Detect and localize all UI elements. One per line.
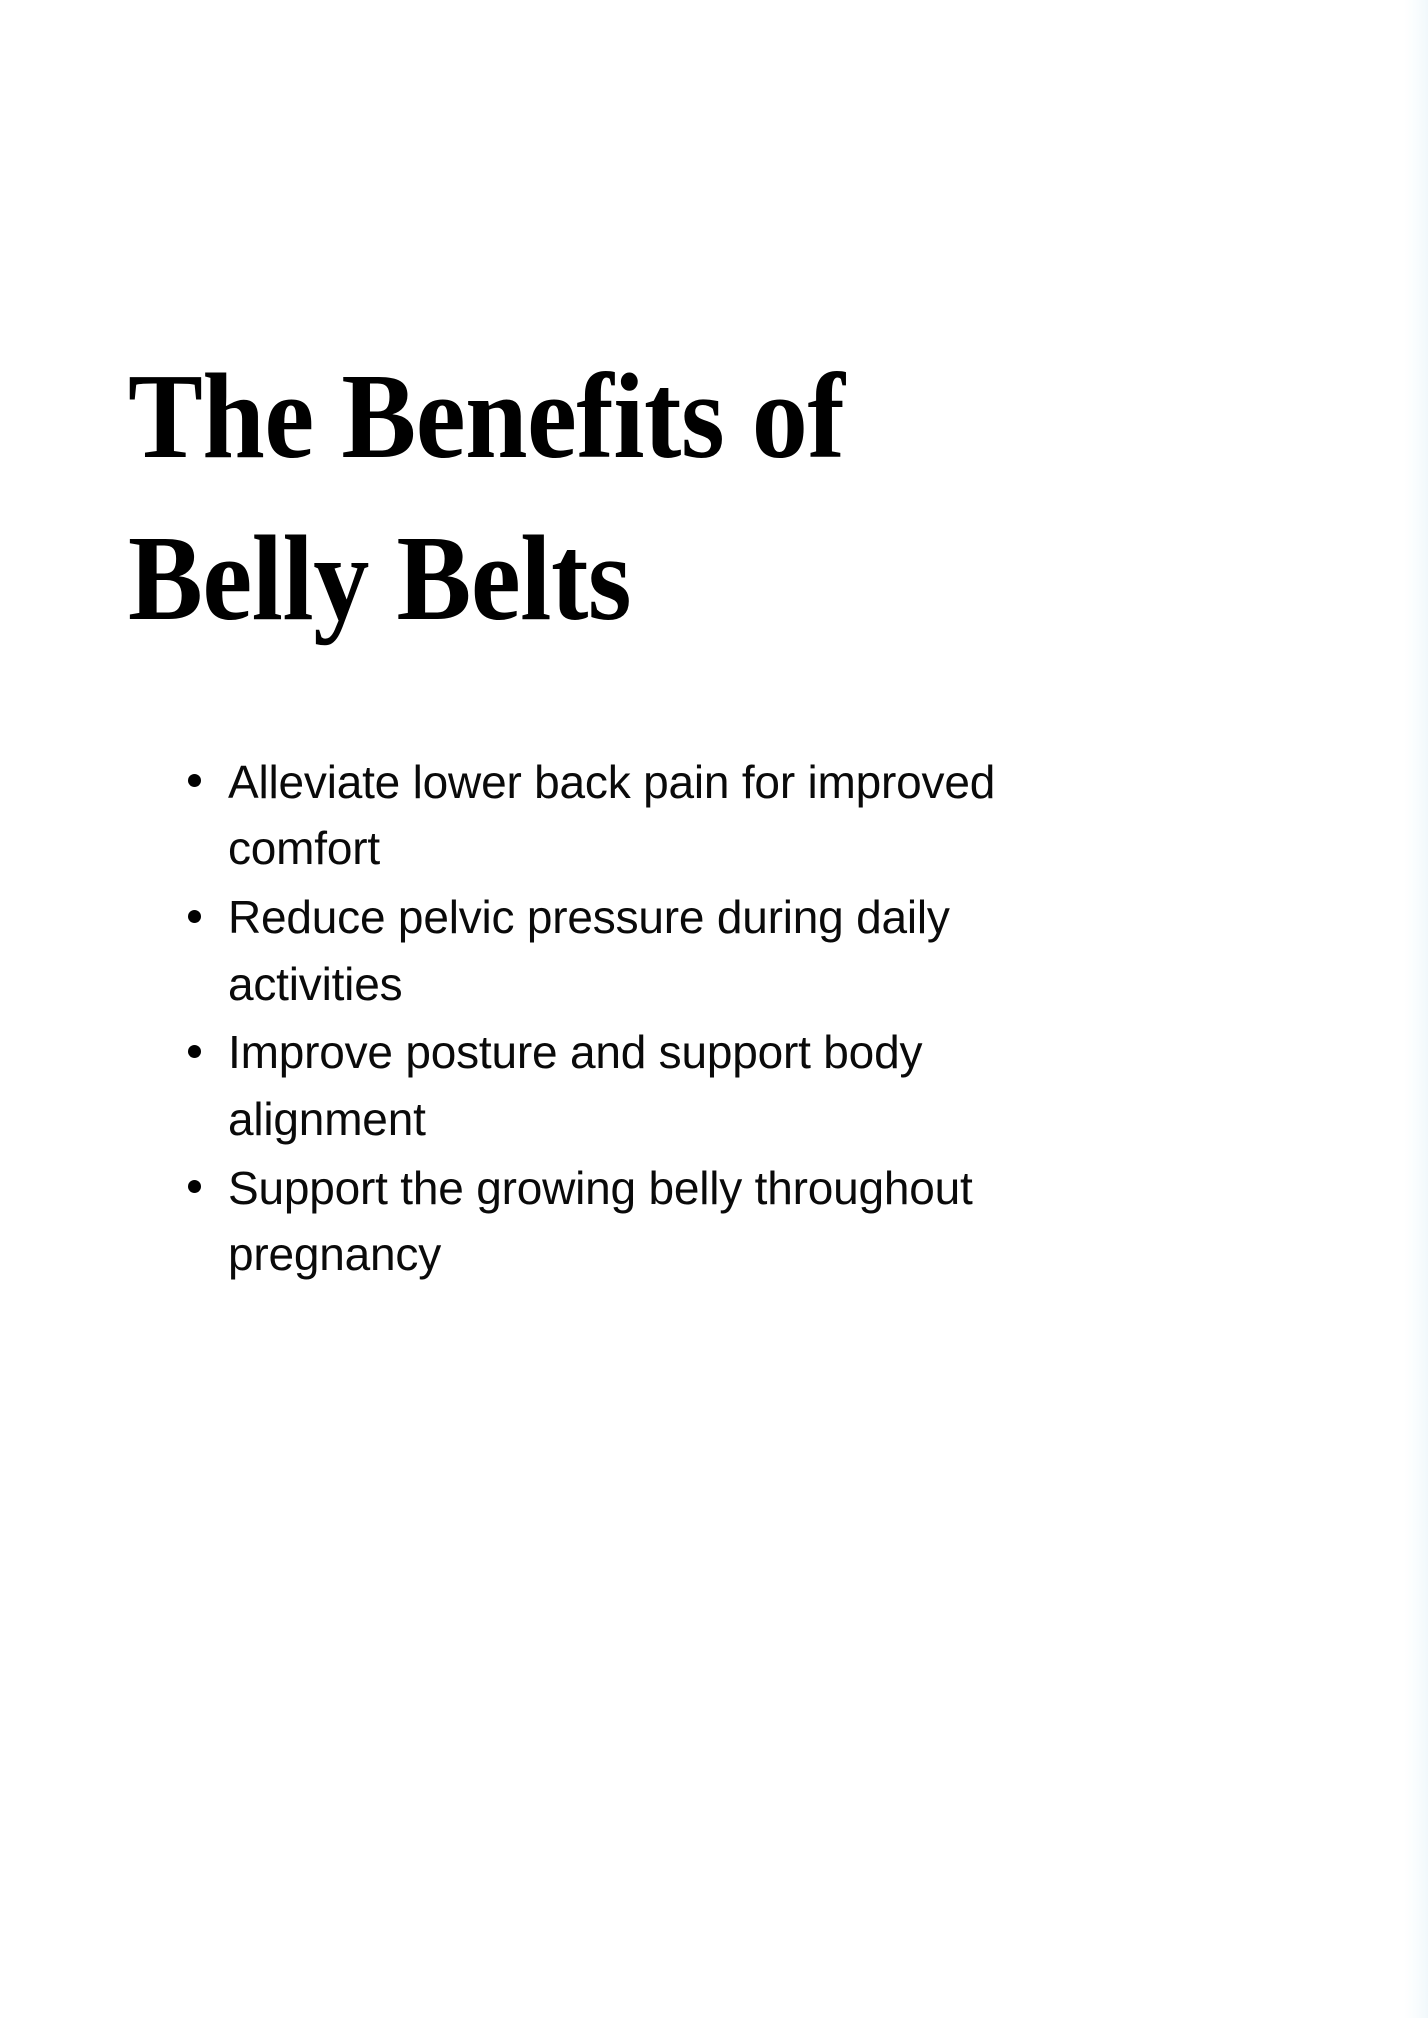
benefits-list: Alleviate lower back pain for improved c… [174,749,1008,1289]
bullet-point-icon [188,1045,201,1058]
bullet-point-icon [188,910,201,923]
list-item-label: Improve posture and support body alignme… [228,1019,1008,1152]
list-item: Support the growing belly throughout pre… [174,1155,1008,1288]
list-item: Alleviate lower back pain for improved c… [174,749,1008,882]
list-item: Improve posture and support body alignme… [174,1019,1008,1152]
page-title: The Benefits of Belly Belts [128,336,938,661]
page-edge-tint [1404,0,1428,2018]
bullet-point-icon [188,774,201,787]
list-item-label: Support the growing belly throughout pre… [228,1155,1008,1288]
document-content: The Benefits of Belly Belts Alleviate lo… [128,336,1008,1290]
list-item-label: Alleviate lower back pain for improved c… [228,749,1008,882]
list-item: Reduce pelvic pressure during daily acti… [174,884,1008,1017]
list-item-label: Reduce pelvic pressure during daily acti… [228,884,1008,1017]
document-page: The Benefits of Belly Belts Alleviate lo… [0,0,1428,2018]
bullet-point-icon [188,1180,201,1193]
